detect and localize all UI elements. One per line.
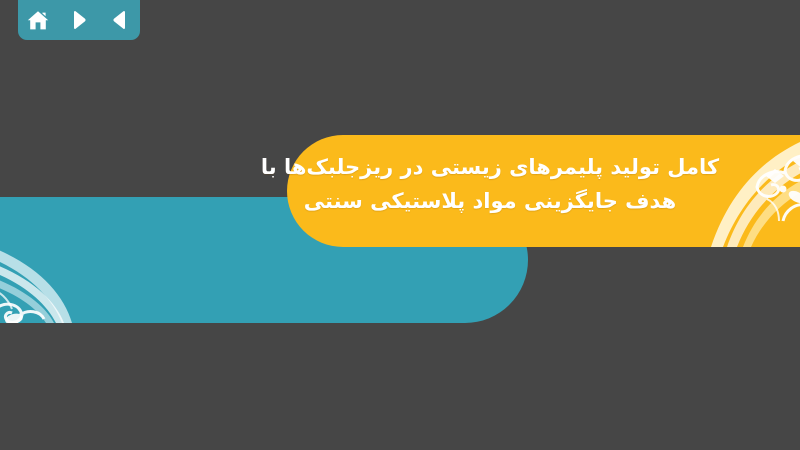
slide-title: کامل تولید پلیمرهای زیستی در ریزجلبک‌ها …	[250, 150, 730, 218]
slide-canvas: کامل تولید پلیمرهای زیستی در ریزجلبک‌ها …	[0, 0, 800, 450]
forward-icon	[70, 10, 88, 30]
forward-button[interactable]	[66, 8, 92, 32]
slide-title-line-2: هدف جایگزینی مواد پلاستیکی سنتی	[250, 184, 730, 218]
home-button[interactable]	[25, 8, 51, 32]
teal-arabesque-ornament-icon	[0, 197, 130, 323]
slide-title-line-1: کامل تولید پلیمرهای زیستی در ریزجلبک‌ها …	[250, 150, 730, 184]
back-icon	[111, 10, 129, 30]
navigation-bar	[18, 0, 140, 40]
back-button[interactable]	[107, 8, 133, 32]
home-icon	[27, 10, 49, 31]
